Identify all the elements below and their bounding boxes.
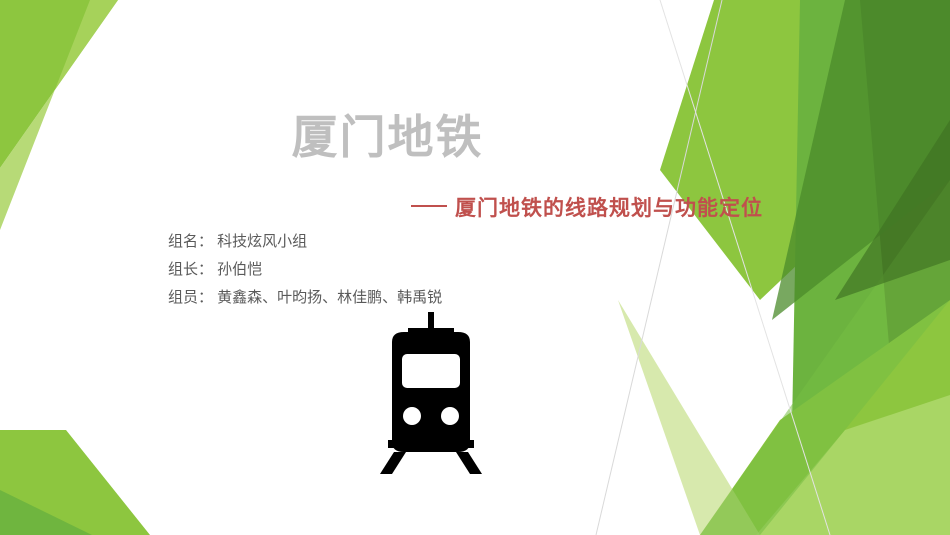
dash-decoration (411, 205, 447, 207)
meta-line-group-members: 组员： 黄鑫森、叶昀扬、林佳鹏、韩禹锐 (168, 284, 442, 312)
title-block: 厦门地铁 (0, 112, 775, 163)
meta-block: 组名： 科技炫风小组 组长： 孙伯恺 组员： 黄鑫森、叶昀扬、林佳鹏、韩禹锐 (168, 228, 442, 312)
train-icon (370, 312, 494, 474)
page-title: 厦门地铁 (0, 112, 775, 163)
page-subtitle: 厦门地铁的线路规划与功能定位 (455, 192, 763, 222)
slide: 厦门地铁 厦门地铁的线路规划与功能定位 组名： 科技炫风小组 组长： 孙伯恺 组… (0, 0, 950, 535)
meta-line-group-leader: 组长： 孙伯恺 (168, 256, 442, 284)
meta-line-group-name: 组名： 科技炫风小组 (168, 228, 442, 256)
subtitle-row: 厦门地铁的线路规划与功能定位 (0, 192, 775, 222)
